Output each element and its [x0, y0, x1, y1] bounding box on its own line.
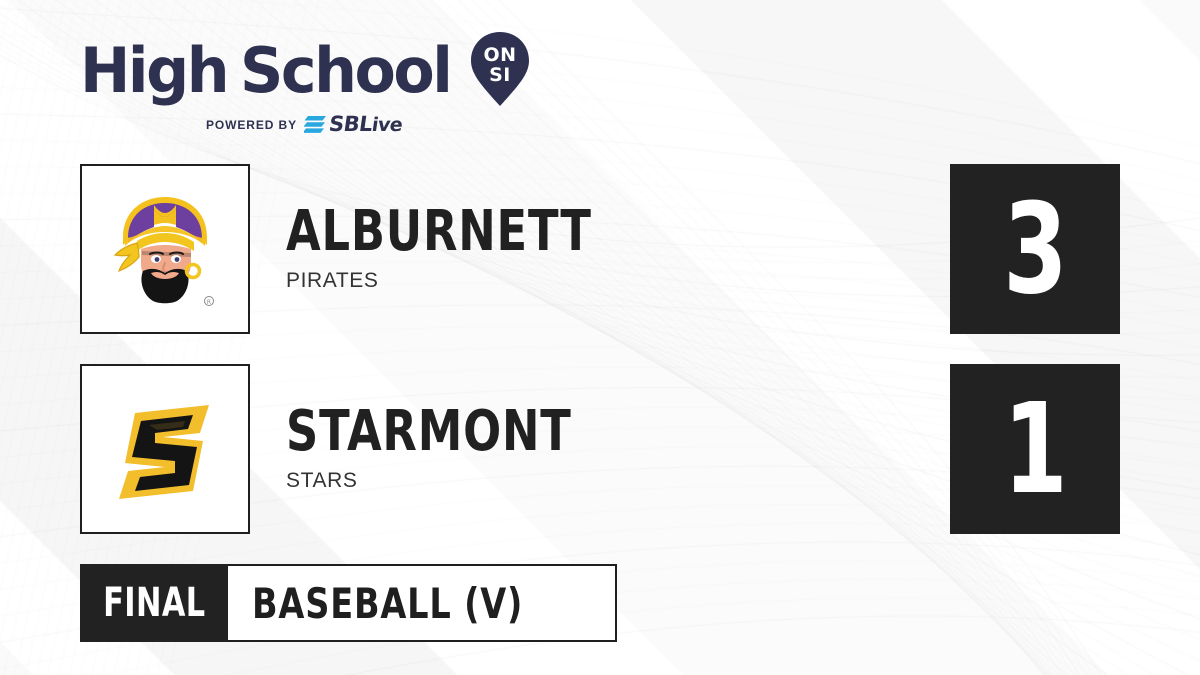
team-mascot: STARS	[286, 469, 643, 493]
sport-label: BASEBALL (V)	[252, 579, 523, 628]
team-score-box: 1	[950, 364, 1120, 534]
team-name: ALBURNETT	[286, 205, 592, 259]
powered-by-row: POWERED BY SBLive	[206, 114, 531, 135]
team-name: STARMONT	[286, 405, 572, 459]
team-info: ALBURNETT PIRATES	[286, 205, 668, 293]
pirate-head-icon: R	[99, 183, 231, 315]
team-score: 3	[1003, 187, 1067, 312]
team-logo-box	[80, 364, 250, 534]
sblive-word-lower: ive	[370, 114, 403, 136]
brand-title-school: School	[240, 40, 450, 102]
on-si-pin-icon: ON SI	[469, 30, 531, 108]
sport-label-box: BASEBALL (V)	[228, 564, 617, 642]
status-badge-label: FINAL	[103, 580, 205, 626]
sblive-wordmark: SBLive	[328, 114, 404, 135]
team-logo-box: R	[80, 164, 250, 334]
team-row: STARMONT STARS	[80, 364, 643, 534]
brand-lockup: High School ON SI POWERED BY SBLive	[80, 34, 531, 135]
sblive-word-upper: SBL	[327, 112, 373, 136]
scoreboard-graphic: High School ON SI POWERED BY SBLive	[0, 0, 1200, 675]
status-badge: FINAL	[80, 564, 228, 642]
team-row: R ALBURNETT PIRATES	[80, 164, 668, 334]
svg-text:SI: SI	[489, 64, 511, 86]
brand-title-row: High School ON SI	[80, 34, 531, 108]
starmont-s-icon	[101, 385, 229, 513]
team-info: STARMONT STARS	[286, 405, 643, 493]
svg-text:R: R	[207, 299, 211, 306]
sblive-logo: SBLive	[304, 114, 402, 135]
sblive-mark-icon	[304, 116, 326, 133]
team-score-box: 3	[950, 164, 1120, 334]
powered-by-label: POWERED BY	[206, 118, 297, 132]
brand-title-high: High	[80, 40, 227, 102]
team-mascot: PIRATES	[286, 269, 668, 293]
game-status-bar: FINAL BASEBALL (V)	[80, 564, 617, 642]
svg-text:ON: ON	[483, 44, 516, 66]
team-score: 1	[1003, 387, 1067, 512]
